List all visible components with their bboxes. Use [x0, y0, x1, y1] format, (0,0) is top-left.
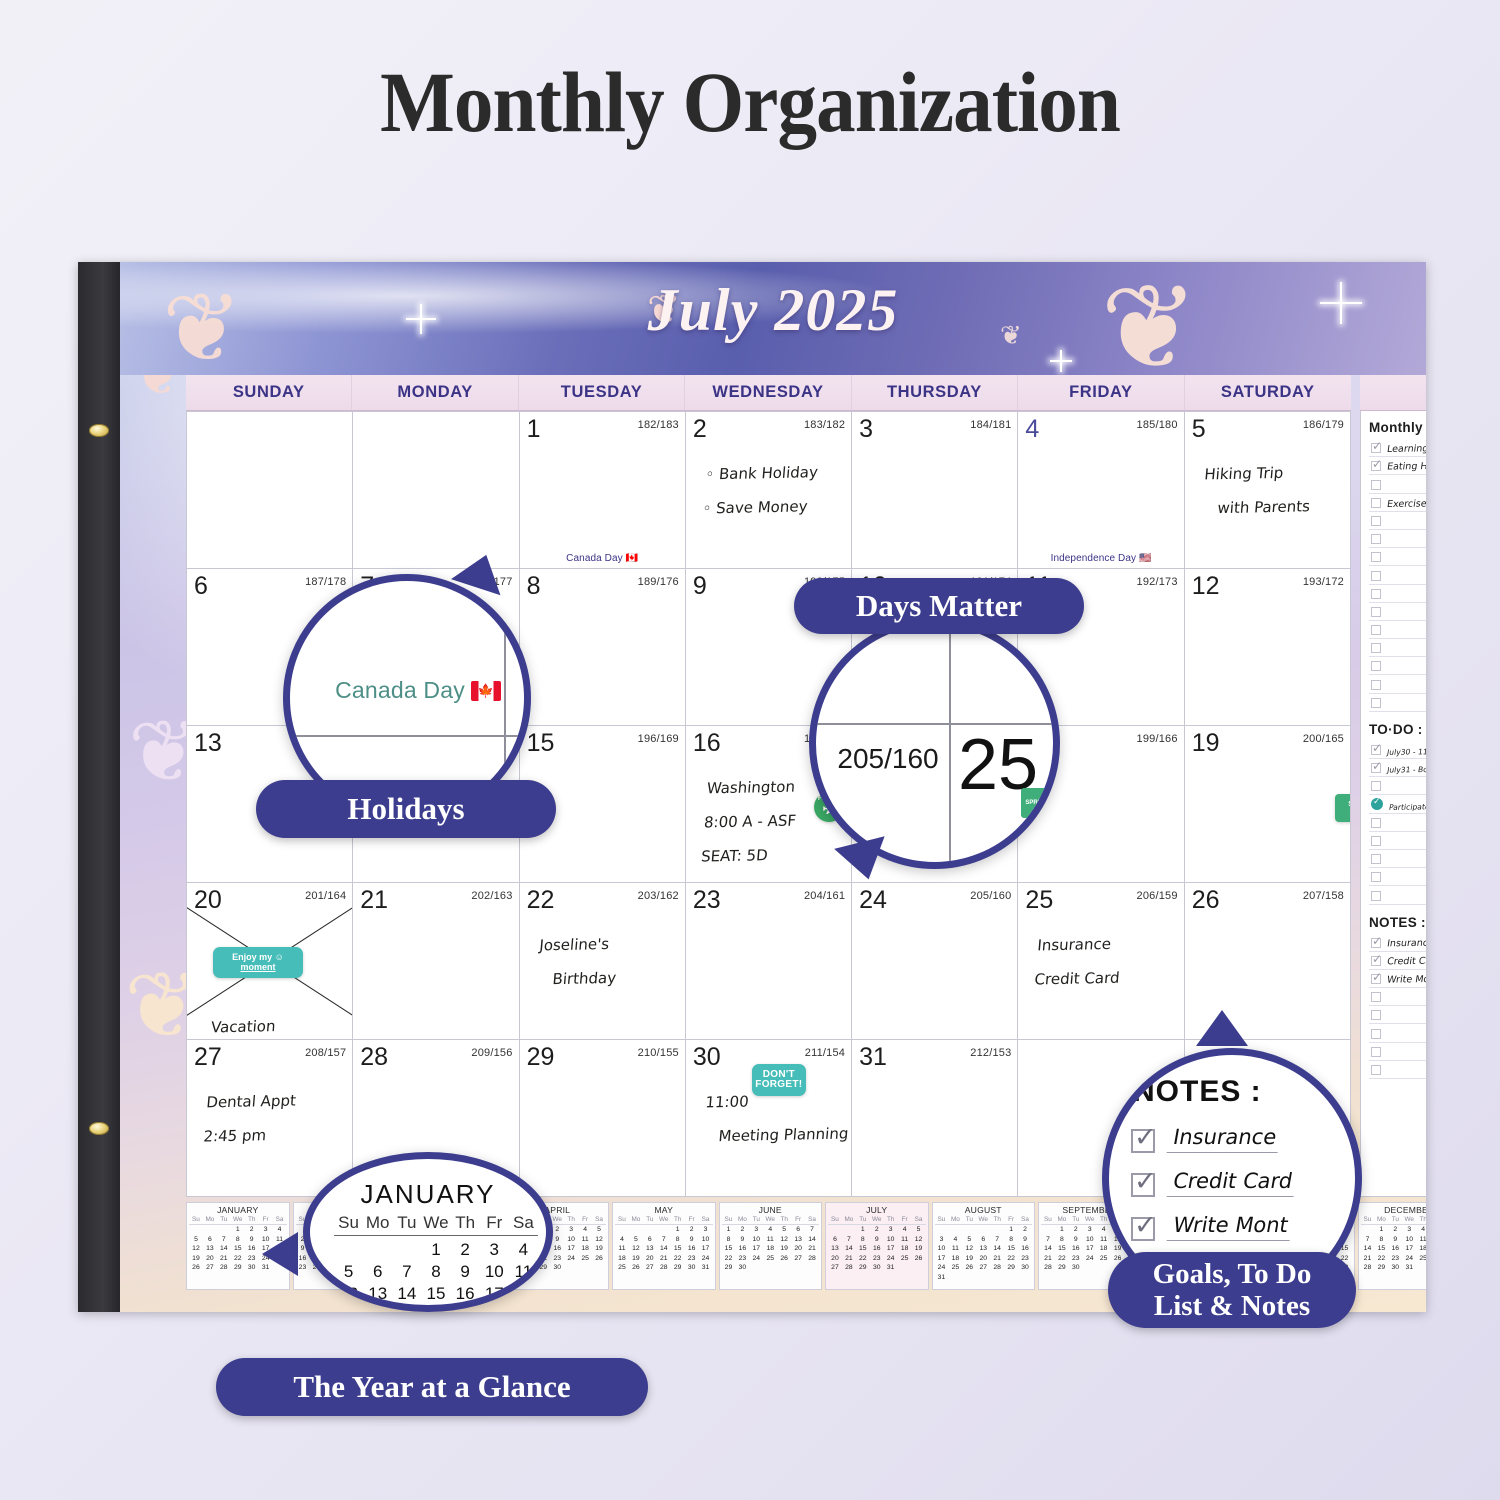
julian-day-count: 192/173 [1137, 576, 1178, 588]
day-number: 5 [1192, 415, 1206, 444]
julian-day-count: 209/156 [471, 1047, 512, 1059]
list-item-text: July31 - Book a Ticket [1386, 765, 1426, 777]
list-item-text: July30 - 11:00 Meeting Planner [1386, 746, 1426, 759]
todo-row-blank[interactable] [1369, 886, 1426, 904]
calendar-day-cell[interactable]: 27208/157Dental Appt2:45 pm [187, 1040, 353, 1197]
todo-list[interactable]: July30 - 11:00 Meeting PlannerJuly31 - B… [1369, 741, 1426, 905]
mini-month-name: JUNE [722, 1205, 820, 1216]
mini-month-zoom-day-cell: 8 [421, 1261, 450, 1283]
checkbox-icon[interactable] [1371, 498, 1381, 508]
mini-month-june[interactable]: JUNESuMoTuWeThFrSa1234567891011121314151… [719, 1202, 823, 1290]
holiday-label: Independence Day 🇺🇸 [1018, 553, 1183, 564]
checkbox-icon[interactable] [1371, 992, 1381, 1002]
julian-day-count: 193/172 [1303, 576, 1344, 588]
checkbox-icon[interactable] [1371, 625, 1381, 635]
notes-zoom-row: Write Mont [1131, 1211, 1362, 1251]
grommet-top-icon [89, 424, 109, 437]
days-matter-magnifier: 205/160 25 SPRING TIME [809, 618, 1060, 869]
day-of-week-header: TUESDAY [519, 375, 685, 410]
target-body: Monthly Goals : Learning Spanish and dan… [1360, 411, 1426, 1197]
mini-month-zoom-day-cell: 7 [392, 1261, 421, 1283]
checkbox-icon[interactable] [1371, 480, 1381, 490]
dont-forget-sticker: DON'TFORGET! [752, 1064, 806, 1096]
mini-month-zoom-day-cell: 6 [363, 1261, 392, 1283]
spring-time-sticker: SPRINGTIME [1335, 794, 1351, 822]
mini-month-dow: SuMoTuWeThFrSa [189, 1216, 287, 1225]
goal-row-blank[interactable] [1369, 621, 1426, 639]
mini-month-days: 1234567891011121314151617181920212223242… [828, 1225, 926, 1273]
calendar-day-cell[interactable]: 24205/160 [852, 883, 1018, 1040]
julian-day-count: 204/161 [804, 890, 845, 902]
day-number: 31 [859, 1043, 887, 1072]
mini-month-zoom-day-cell: 1 [421, 1239, 450, 1261]
checkbox-icon[interactable] [1371, 1065, 1381, 1075]
month-title: July 2025 [120, 276, 1426, 345]
checkbox-icon[interactable] [1371, 854, 1381, 864]
mini-month-name: JULY [828, 1205, 926, 1216]
calendar-day-cell[interactable]: 30211/15411:00Meeting PlanningDON'TFORGE… [686, 1040, 852, 1197]
holiday-label: Canada Day 🇨🇦 [520, 553, 685, 564]
mini-month-name: JANUARY [189, 1205, 287, 1216]
day-of-week-header: SATURDAY [1185, 375, 1351, 410]
checkbox-icon[interactable] [1371, 872, 1381, 882]
mini-month-days: 1234567891011121314151617181920212223242… [722, 1225, 820, 1273]
calendar-day-cell[interactable]: 21202/163 [353, 883, 519, 1040]
calendar-day-cell[interactable]: 20201/164VacationEnjoy my ☺moment [187, 883, 353, 1040]
day-number: 25 [1025, 886, 1053, 915]
mini-month-zoom-day-cell: 12 [334, 1283, 363, 1305]
mini-month-dow: SuMoTuWeThFrSa [935, 1216, 1033, 1225]
checkbox-icon[interactable] [1371, 516, 1381, 526]
notes-zoom-row: Insurance [1131, 1123, 1362, 1163]
checkbox-icon[interactable] [1371, 818, 1381, 828]
notes-zoom-row: Credit Card [1131, 1167, 1362, 1207]
mini-month-zoom-dow-cell: Su [334, 1213, 363, 1233]
calendar-day-cell[interactable]: 12193/172 [1185, 569, 1351, 726]
day-number: 13 [194, 729, 222, 758]
checkbox-icon[interactable] [1371, 661, 1381, 671]
julian-day-count: 210/155 [638, 1047, 679, 1059]
callout-tail [262, 1232, 298, 1276]
mini-month-zoom-day-cell: 5 [334, 1261, 363, 1283]
mini-month-may[interactable]: MAYSuMoTuWeThFrSa12345678910111213141516… [612, 1202, 716, 1290]
day-number: 27 [194, 1043, 222, 1072]
callout-notes-label: Goals, To Do List & Notes [1108, 1252, 1356, 1328]
mini-month-zoom-day-cell: 9 [451, 1261, 480, 1283]
checkbox-checked-icon [1131, 1129, 1155, 1153]
handwritten-note: Dental Appt2:45 pm [202, 1082, 347, 1153]
handwritten-note: Joseline'sBirthday [535, 925, 680, 996]
handwritten-note: ◦ Bank Holiday◦ Save Money [701, 454, 846, 525]
mini-month-zoom-day-cell: 17 [480, 1283, 509, 1305]
calendar-day-cell[interactable]: 5186/179Hiking Tripwith Parents [1185, 412, 1351, 569]
callout-tail [1196, 1010, 1248, 1046]
todo-row-blank[interactable] [1369, 850, 1426, 868]
checkbox-icon[interactable] [1371, 698, 1381, 708]
notes-title: NOTES : [1369, 915, 1426, 930]
target-panel: TARGET Monthly Goals : Learning Spanish … [1360, 375, 1426, 1197]
mini-month-days: 1234567891011121314151617181920212223242… [935, 1225, 1033, 1283]
monthly-goals-title: Monthly Goals : [1369, 420, 1426, 435]
goal-row-blank[interactable] [1369, 512, 1426, 530]
handwritten-note: Hiking Tripwith Parents [1200, 454, 1345, 525]
julian-day-count: 206/159 [1137, 890, 1178, 902]
handwritten-note: InsuranceCredit Card [1034, 925, 1179, 996]
checkbox-icon[interactable] [1371, 552, 1381, 562]
goal-row-blank[interactable] [1369, 566, 1426, 584]
calendar-week-row: 1182/183Canada Day 🇨🇦2183/182◦ Bank Holi… [187, 412, 1351, 569]
day-of-week-header: MONDAY [352, 375, 518, 410]
day-number: 19 [1192, 729, 1220, 758]
todo-row[interactable]: July31 - Book a Ticket [1369, 759, 1426, 777]
mini-month-zoom-day-cell: 4 [509, 1239, 538, 1261]
mini-month-days: 1234567891011121314151617181920212223242… [615, 1225, 713, 1273]
note-row-blank[interactable] [1369, 1061, 1426, 1079]
mini-month-zoom-dow-cell: Fr [480, 1213, 509, 1233]
mini-month-zoom-dow-cell: Tu [392, 1213, 421, 1233]
callout-days-matter-label: Days Matter [794, 578, 1084, 634]
julian-day-count: 207/158 [1303, 890, 1344, 902]
goal-row-blank[interactable] [1369, 657, 1426, 675]
day-number: 21 [360, 886, 388, 915]
year-glance-magnifier: JANUARY SuMoTuWeThFrSa 12345678910111213… [303, 1152, 553, 1312]
day-number: 23 [693, 886, 721, 915]
calendar-day-cell[interactable]: 23204/161 [686, 883, 852, 1040]
calendar-day-cell[interactable]: 31212/153 [852, 1040, 1018, 1197]
goal-row[interactable]: Exercise regularly →lose weight [1369, 494, 1426, 512]
mini-month-zoom-dow-cell: We [421, 1213, 450, 1233]
todo-row[interactable]: July30 - 11:00 Meeting Planner [1369, 741, 1426, 759]
list-item-text: Eating Healthier [1386, 461, 1426, 475]
mini-month-name: AUGUST [935, 1205, 1033, 1216]
julian-day-count: 211/154 [805, 1047, 845, 1059]
julian-day-count: 183/182 [804, 419, 845, 431]
mini-month-zoom-days: 1234567891011121314151617181920212223242… [334, 1239, 538, 1312]
checkbox-icon[interactable] [1371, 891, 1381, 901]
mini-month-zoom-day-cell: 3 [480, 1239, 509, 1261]
julian-day-count: 184/181 [970, 419, 1011, 431]
target-header: TARGET [1360, 375, 1426, 411]
goal-row[interactable]: Learning Spanish and dance [1369, 439, 1426, 457]
enjoy-moment-sticker: Enjoy my ☺moment [213, 947, 303, 978]
todo-row-blank[interactable] [1369, 868, 1426, 886]
binding-strip [78, 262, 120, 1312]
note-row-blank[interactable] [1369, 1043, 1426, 1061]
note-row[interactable]: Insurance [1369, 934, 1426, 952]
mini-month-zoom-dow: SuMoTuWeThFrSa [334, 1213, 538, 1236]
list-item-text: Learning Spanish and dance [1386, 442, 1426, 457]
day-of-week-header: FRIDAY [1018, 375, 1184, 410]
mini-month-zoom-dow-cell: Sa [509, 1213, 538, 1233]
calendar-day-cell[interactable]: 19200/165SPRINGTIME [1185, 726, 1351, 883]
goal-row[interactable]: Eating Healthier [1369, 457, 1426, 475]
julian-day-count: 185/180 [1137, 419, 1178, 431]
mini-month-zoom-dow-cell: Mo [363, 1213, 392, 1233]
julian-day-count: 202/163 [471, 890, 512, 902]
checkbox-checked-icon[interactable] [1371, 745, 1381, 755]
goal-row-blank[interactable] [1369, 639, 1426, 657]
checkbox-checked-icon[interactable] [1371, 956, 1381, 966]
day-number: 8 [527, 572, 541, 601]
mini-month-zoom-day-cell: 16 [451, 1283, 480, 1305]
checkbox-checked-icon[interactable] [1371, 938, 1381, 948]
goal-row[interactable] [1369, 475, 1426, 493]
checkbox-checked-icon[interactable] [1371, 974, 1381, 984]
checkbox-icon[interactable] [1371, 680, 1381, 690]
note-row[interactable]: Write Monthly Pl an [1369, 970, 1426, 988]
goal-row-blank[interactable] [1369, 694, 1426, 712]
day-number: 16 [693, 729, 721, 758]
checkbox-icon[interactable] [1371, 836, 1381, 846]
handwritten-note: Vacation [210, 1008, 346, 1040]
day-number: 3 [859, 415, 873, 444]
calendar-day-cell[interactable]: 29210/155 [520, 1040, 686, 1197]
day-number: 28 [360, 1043, 388, 1072]
day-number: 12 [1192, 572, 1220, 601]
monthly-goals-list[interactable]: Learning Spanish and danceEating Healthi… [1369, 439, 1426, 712]
checkbox-icon[interactable] [1371, 643, 1381, 653]
list-item-text: Credit Card [1386, 955, 1426, 969]
mini-month-zoom-dow-cell: Th [451, 1213, 480, 1233]
calendar-day-cell[interactable]: 4185/180Independence Day 🇺🇸 [1018, 412, 1184, 569]
julian-day-count: 201/164 [305, 890, 346, 902]
goal-row-blank[interactable] [1369, 585, 1426, 603]
note-row-blank[interactable] [1369, 988, 1426, 1006]
mini-month-days: 1234567891011121314151617181920212223242… [1361, 1225, 1427, 1273]
julian-day-count: 200/165 [1303, 733, 1344, 745]
checkbox-icon[interactable] [1371, 781, 1381, 791]
julian-day-count: 196/169 [638, 733, 679, 745]
todo-row[interactable]: Participate in volunteer Activities [1369, 795, 1426, 813]
goal-row-blank[interactable] [1369, 675, 1426, 693]
checkbox-icon[interactable] [1371, 589, 1381, 599]
mini-month-zoom-day-cell: 14 [392, 1283, 421, 1305]
goal-row-blank[interactable] [1369, 548, 1426, 566]
goal-row-blank[interactable] [1369, 603, 1426, 621]
note-row[interactable]: Credit Card [1369, 952, 1426, 970]
list-item-text: Insurance [1386, 937, 1426, 951]
mini-month-zoom-day-cell: 2 [451, 1239, 480, 1261]
checkbox-checked-icon[interactable] [1371, 443, 1381, 453]
sparkle-icon [1050, 350, 1072, 372]
julian-day-count: 203/162 [638, 890, 679, 902]
day-of-week-header: WEDNESDAY [685, 375, 851, 410]
canada-flag-icon [471, 681, 501, 701]
checkbox-checked-icon [1131, 1173, 1155, 1197]
mini-month-zoom-day-cell: 15 [421, 1283, 450, 1305]
day-number: 20 [194, 886, 222, 915]
notes-list[interactable]: InsuranceCredit CardWrite Monthly Pl an [1369, 934, 1426, 1080]
calendar-day-cell[interactable]: 1182/183Canada Day 🇨🇦 [520, 412, 686, 569]
day-number: 9 [693, 572, 707, 601]
julian-day-count: 208/157 [305, 1047, 346, 1059]
julian-day-zoom-value: 205/160 [826, 743, 950, 775]
todo-row[interactable] [1369, 777, 1426, 795]
checkbox-checked-icon[interactable] [1371, 763, 1381, 773]
mini-month-name: MAY [615, 1205, 713, 1216]
day-number: 1 [527, 415, 541, 444]
todo-row-blank[interactable] [1369, 832, 1426, 850]
list-item-text: Write Monthly Pl an [1386, 973, 1426, 987]
mini-month-dow: SuMoTuWeThFrSa [828, 1216, 926, 1225]
mini-month-december[interactable]: DECEMBERSuMoTuWeThFrSa123456789101112131… [1358, 1202, 1427, 1290]
calendar-week-row: 20201/164VacationEnjoy my ☺moment21202/1… [187, 883, 1351, 1040]
flag-icon: 🇨🇦 [626, 553, 639, 564]
calendar-day-cell[interactable]: 8189/176 [520, 569, 686, 726]
mini-month-dow: SuMoTuWeThFrSa [722, 1216, 820, 1225]
day-number: 15 [527, 729, 555, 758]
checkbox-checked-icon[interactable] [1371, 461, 1381, 471]
checkbox-icon[interactable] [1371, 571, 1381, 581]
mini-month-zoom-day-cell: 22 [421, 1305, 450, 1312]
mini-month-zoom-day-cell: 18 [509, 1283, 538, 1305]
checkbox-icon[interactable] [1371, 607, 1381, 617]
julian-day-count: 182/183 [638, 419, 679, 431]
list-item-text: Participate in volunteer Activities [1388, 801, 1426, 814]
mini-month-july[interactable]: JULYSuMoTuWeThFrSa1234567891011121314151… [825, 1202, 929, 1290]
mini-month-august[interactable]: AUGUSTSuMoTuWeThFrSa12345678910111213141… [932, 1202, 1036, 1290]
day-number: 6 [194, 572, 208, 601]
day-number: 26 [1192, 886, 1220, 915]
mini-month-dow: SuMoTuWeThFrSa [615, 1216, 713, 1225]
calendar-day-cell[interactable]: 3184/181 [852, 412, 1018, 569]
mini-month-dow: SuMoTuWeThFrSa [1361, 1216, 1427, 1225]
calendar-empty-cell [187, 412, 353, 569]
grommet-bottom-icon [89, 1122, 109, 1135]
callout-holidays-label: Holidays [256, 780, 556, 838]
checkbox-icon[interactable] [1371, 1029, 1381, 1039]
day-of-week-header-row: SUNDAYMONDAYTUESDAYWEDNESDAYTHURSDAYFRID… [186, 375, 1351, 411]
checkbox-icon[interactable] [1371, 1047, 1381, 1057]
flag-icon: 🇺🇸 [1139, 553, 1152, 564]
page-title: Monthly Organization [60, 52, 1440, 152]
calendar-day-cell[interactable]: 25206/159InsuranceCredit Card [1018, 883, 1184, 1040]
calendar-empty-cell [353, 412, 519, 569]
day-of-week-header: SUNDAY [186, 375, 352, 410]
note-row-blank[interactable] [1369, 1024, 1426, 1042]
day-number: 2 [693, 415, 707, 444]
day-number: 29 [527, 1043, 555, 1072]
mini-month-name: DECEMBER [1361, 1205, 1427, 1216]
mini-month-zoom-name: JANUARY [310, 1179, 546, 1210]
checkbox-icon[interactable] [1371, 1010, 1381, 1020]
month-banner: ❦ ❦ ❦ ❦ July 2025 [120, 262, 1426, 375]
julian-day-count: 205/160 [970, 890, 1011, 902]
day-number: 24 [859, 886, 887, 915]
todo-row-blank[interactable] [1369, 814, 1426, 832]
goal-row-blank[interactable] [1369, 530, 1426, 548]
calendar-day-cell[interactable]: 22203/162Joseline'sBirthday [520, 883, 686, 1040]
calendar-day-cell[interactable]: 2183/182◦ Bank Holiday◦ Save Money [686, 412, 852, 569]
checkbox-checked-icon [1131, 1217, 1155, 1241]
list-item-text: Exercise regularly →lose weight [1386, 497, 1426, 512]
julian-day-count: 186/179 [1303, 419, 1344, 431]
notes-zoom-title: NOTES : [1133, 1075, 1262, 1109]
todo-title: TO·DO : [1369, 722, 1426, 737]
canada-day-zoom-label: Canada Day [318, 677, 518, 704]
day-number: 4 [1025, 415, 1039, 444]
mini-month-zoom-day-cell: 10 [480, 1261, 509, 1283]
julian-day-count: 212/153 [970, 1047, 1011, 1059]
note-row-blank[interactable] [1369, 1006, 1426, 1024]
checkbox-checked-icon[interactable] [1371, 798, 1383, 810]
day-of-week-header: THURSDAY [852, 375, 1018, 410]
day-number: 30 [693, 1043, 721, 1072]
julian-day-count: 199/166 [1137, 733, 1178, 745]
mini-month-zoom-day-cell: 11 [509, 1261, 538, 1283]
callout-year-glance-label: The Year at a Glance [216, 1358, 648, 1416]
mini-month-zoom-day-cell: 13 [363, 1283, 392, 1305]
day-number: 22 [527, 886, 555, 915]
checkbox-icon[interactable] [1371, 534, 1381, 544]
julian-day-count: 189/176 [638, 576, 679, 588]
